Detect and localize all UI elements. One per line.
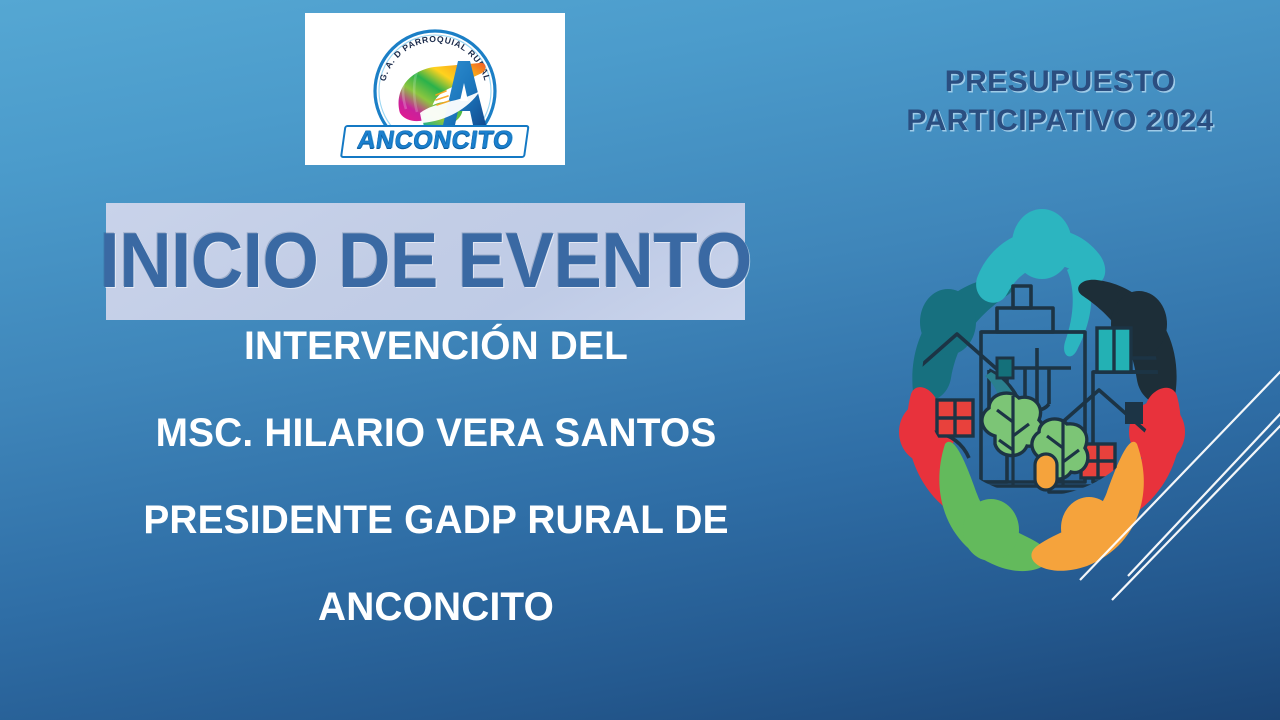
body-line-1: INTERVENCIÓN DEL xyxy=(91,326,782,366)
budget-heading-line-2: PARTICIPATIVO 2024 xyxy=(860,101,1260,140)
body-line-3: PRESIDENTE GADP RURAL DE xyxy=(91,500,782,540)
gad-anconcito-logo-card: G. A. D PARROQUIAL RURAL xyxy=(305,13,565,165)
window-navy-small xyxy=(1125,402,1143,424)
logo-wordmark-text: ANCONCITO xyxy=(356,128,515,154)
body-text-block: INTERVENCIÓN DEL MSC. HILARIO VERA SANTO… xyxy=(80,326,792,627)
title-banner: INICIO DE EVENTO xyxy=(106,203,745,320)
title-banner-text: INICIO DE EVENTO xyxy=(99,221,751,299)
window-teal-double xyxy=(1097,328,1131,372)
budget-heading: PRESUPUESTO PARTICIPATIVO 2024 xyxy=(860,62,1260,140)
body-line-2: MSC. HILARIO VERA SANTOS xyxy=(91,413,782,453)
presentation-slide: G. A. D PARROQUIAL RURAL xyxy=(0,0,1280,720)
logo-wordmark-banner: ANCONCITO xyxy=(340,125,530,158)
window-teal-small xyxy=(997,358,1013,378)
window-red-left xyxy=(937,400,973,436)
bollard-orange xyxy=(1035,454,1057,490)
community-illustration xyxy=(885,182,1195,572)
budget-heading-line-1: PRESUPUESTO xyxy=(860,62,1260,101)
body-line-4: ANCONCITO xyxy=(91,587,782,627)
